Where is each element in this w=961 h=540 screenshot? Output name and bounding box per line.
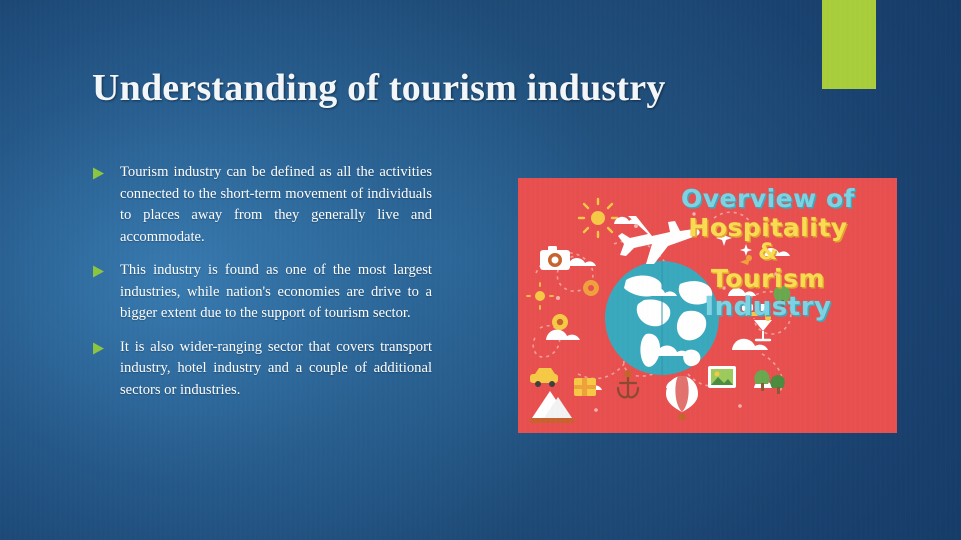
accent-block — [822, 0, 876, 89]
tourism-infographic-graphic — [518, 178, 897, 433]
triangle-right-icon — [92, 342, 105, 355]
bullet-text: This industry is found as one of the mos… — [120, 260, 432, 325]
list-item: It is also wider-ranging sector that cov… — [92, 337, 432, 402]
slide-canvas: Understanding of tourism industry Touris… — [0, 0, 961, 540]
bullet-list: Tourism industry can be defined as all t… — [92, 162, 432, 413]
list-item: Tourism industry can be defined as all t… — [92, 162, 432, 248]
slide-title: Understanding of tourism industry — [92, 67, 792, 110]
bullet-text: Tourism industry can be defined as all t… — [120, 162, 432, 248]
bullet-text: It is also wider-ranging sector that cov… — [120, 337, 432, 402]
content-image: Overview of Hospitality & Tourism Indust… — [518, 178, 897, 433]
triangle-right-icon — [92, 167, 105, 180]
triangle-right-icon — [92, 265, 105, 278]
list-item: This industry is found as one of the mos… — [92, 260, 432, 325]
